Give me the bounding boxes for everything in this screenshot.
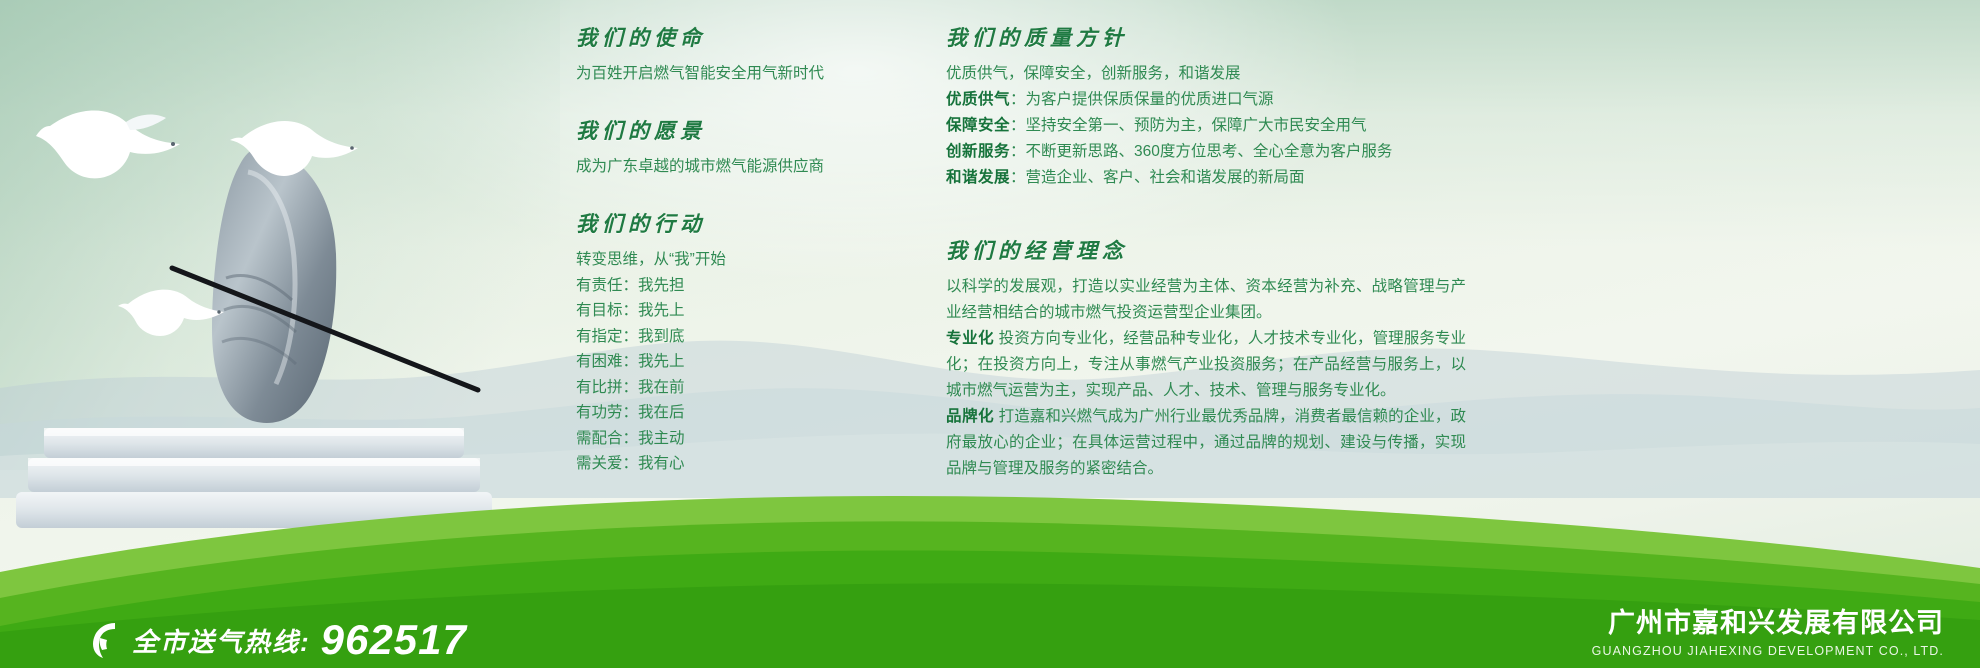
quality-policy-item: 保障安全：坚持安全第一、预防为主，保障广大市民安全用气 [946, 113, 1466, 139]
hotline-group: 全市送气热线: 962517 [88, 620, 467, 660]
action-line: 有功劳：我在后 [576, 400, 906, 426]
hotline-number: 962517 [321, 620, 467, 660]
quality-policy-summary: 优质供气，保障安全，创新服务，和谐发展 [946, 61, 1466, 87]
quality-policy-text: ：为客户提供保质保量的优质进口气源 [1010, 91, 1274, 108]
action-line: 需关爱：我有心 [576, 451, 906, 477]
company-name-en: GUANGZHOU JIAHEXING DEVELOPMENT CO., LTD… [1592, 644, 1944, 658]
vision-line: 成为广东卓越的城市燃气能源供应商 [576, 154, 906, 180]
culture-core-heading: 企业文化核心理念 [946, 526, 1466, 556]
dove-icon [118, 278, 228, 348]
core-values-heading: 我们的核心价值观 [576, 507, 906, 537]
quality-policy-item: 创新服务：不断更新思路、360度方位思考、全心全意为客户服务 [946, 139, 1466, 165]
management-philosophy-heading: 我们的经营理念 [946, 235, 1466, 265]
quality-policy-lead: 创新服务 [946, 143, 1010, 160]
quality-policy-lead: 优质供气 [946, 91, 1010, 108]
dove-icon [30, 100, 200, 195]
quality-policy-item: 和谐发展：营造企业、客户、社会和谐发展的新局面 [946, 165, 1466, 191]
quality-policy-lead: 保障安全 [946, 117, 1010, 134]
action-line: 有困难：我先上 [576, 349, 906, 375]
left-tint-layer [0, 0, 560, 470]
management-philosophy-point: 专业化 投资方向专业化，经营品种专业化，人才技术专业化，管理服务专业化；在投资方… [946, 326, 1466, 404]
poster-canvas: 我们的使命 为百姓开启燃气智能安全用气新时代 我们的愿景 成为广东卓越的城市燃气… [0, 0, 1980, 668]
phone-icon [88, 620, 122, 660]
core-value-text: ：永恒创新，精细不止 [607, 550, 762, 567]
management-philosophy-block: 我们的经营理念 以科学的发展观，打造以实业经营为主体、资本经营为补充、战略管理与… [946, 235, 1466, 482]
action-block: 我们的行动 转变思维，从“我”开始 有责任：我先担 有目标：我先上 有指定：我到… [576, 208, 906, 477]
company-identity: 广州市嘉和兴发展有限公司 GUANGZHOU JIAHEXING DEVELOP… [1592, 601, 1944, 658]
quality-policy-text: ：不断更新思路、360度方位思考、全心全意为客户服务 [1010, 143, 1392, 160]
action-line: 转变思维，从“我”开始 [576, 247, 906, 273]
middle-text-column: 我们的使命 为百姓开启燃气智能安全用气新时代 我们的愿景 成为广东卓越的城市燃气… [576, 22, 906, 624]
quality-policy-heading: 我们的质量方针 [946, 22, 1466, 52]
company-name-cn: 广州市嘉和兴发展有限公司 [1592, 601, 1944, 640]
management-philosophy-point: 品牌化 打造嘉和兴燃气成为广州行业最优秀品牌，消费者最信赖的企业，政府最放心的企… [946, 404, 1466, 482]
action-line: 有比拼：我在前 [576, 375, 906, 401]
quality-policy-lead: 和谐发展 [946, 169, 1010, 186]
management-point-text: 打造嘉和兴燃气成为广州行业最优秀品牌，消费者最信赖的企业，政府最放心的企业；在具… [946, 408, 1466, 477]
action-line: 需配合：我主动 [576, 426, 906, 452]
right-text-column: 我们的质量方针 优质供气，保障安全，创新服务，和谐发展 优质供气：为客户提供保质… [946, 22, 1466, 591]
action-line: 有指定：我到底 [576, 324, 906, 350]
quality-policy-item: 优质供气：为客户提供保质保量的优质进口气源 [946, 87, 1466, 113]
action-line: 有责任：我先担 [576, 273, 906, 299]
dove-icon [228, 108, 363, 188]
management-point-text: 投资方向专业化，经营品种专业化，人才技术专业化，管理服务专业化；在投资方向上，专… [946, 330, 1466, 399]
quality-policy-block: 我们的质量方针 优质供气，保障安全，创新服务，和谐发展 优质供气：为客户提供保质… [946, 22, 1466, 191]
hotline-label: 全市送气热线: [132, 622, 311, 659]
mission-line: 为百姓开启燃气智能安全用气新时代 [576, 61, 906, 87]
management-point-lead: 专业化 [946, 330, 994, 347]
mission-block: 我们的使命 为百姓开启燃气智能安全用气新时代 [576, 22, 906, 87]
management-point-lead: 品牌化 [946, 408, 994, 425]
culture-core-block: 企业文化核心理念 安全供气 追求卓越 创新发展 和谐共进 [946, 526, 1466, 591]
management-philosophy-intro: 以科学的发展观，打造以实业经营为主体、资本经营为补充、战略管理与产业经营相结合的… [946, 274, 1466, 326]
stone-sculpture-image [10, 128, 530, 528]
action-line: 有目标：我先上 [576, 298, 906, 324]
band-content: 全市送气热线: 962517 广州市嘉和兴发展有限公司 GUANGZHOU JI… [0, 588, 1980, 668]
action-heading: 我们的行动 [576, 208, 906, 238]
core-value-lead: 创新 [576, 550, 607, 567]
quality-policy-text: ：营造企业、客户、社会和谐发展的新局面 [1010, 169, 1305, 186]
core-value-item: 创新：永恒创新，精细不止 [576, 546, 906, 572]
quality-policy-text: ：坚持安全第一、预防为主，保障广大市民安全用气 [1010, 117, 1367, 134]
vision-heading: 我们的愿景 [576, 115, 906, 145]
mission-heading: 我们的使命 [576, 22, 906, 52]
vision-block: 我们的愿景 成为广东卓越的城市燃气能源供应商 [576, 115, 906, 180]
